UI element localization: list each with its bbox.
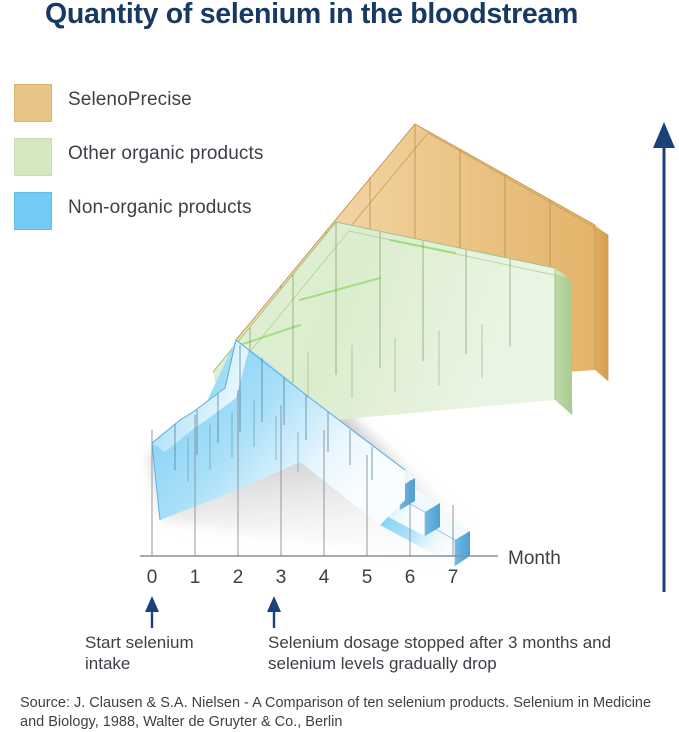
x-tick-5: 5: [355, 567, 379, 589]
chart-container: Quantity of selenium in the bloodstream …: [0, 0, 679, 731]
source-citation: Source: J. Clausen & S.A. Nielsen - A Co…: [20, 694, 660, 732]
annotation-start-intake: Start selenium intake: [85, 632, 235, 674]
x-tick-1: 1: [183, 567, 207, 589]
y-axis-arrow: [653, 122, 675, 592]
x-tick-3: 3: [269, 567, 293, 589]
x-tick-6: 6: [398, 567, 422, 589]
x-tick-2: 2: [226, 567, 250, 589]
x-axis-title: Month: [508, 548, 561, 570]
x-tick-7: 7: [441, 567, 465, 589]
x-tick-4: 4: [312, 567, 336, 589]
x-tick-0: 0: [140, 567, 164, 589]
annotation-arrow-month-3: [267, 596, 281, 628]
annotation-arrow-month-0: [145, 596, 159, 628]
chart-plot-area: [0, 0, 679, 731]
annotation-dosage-stopped: Selenium dosage stopped after 3 months a…: [268, 632, 628, 674]
